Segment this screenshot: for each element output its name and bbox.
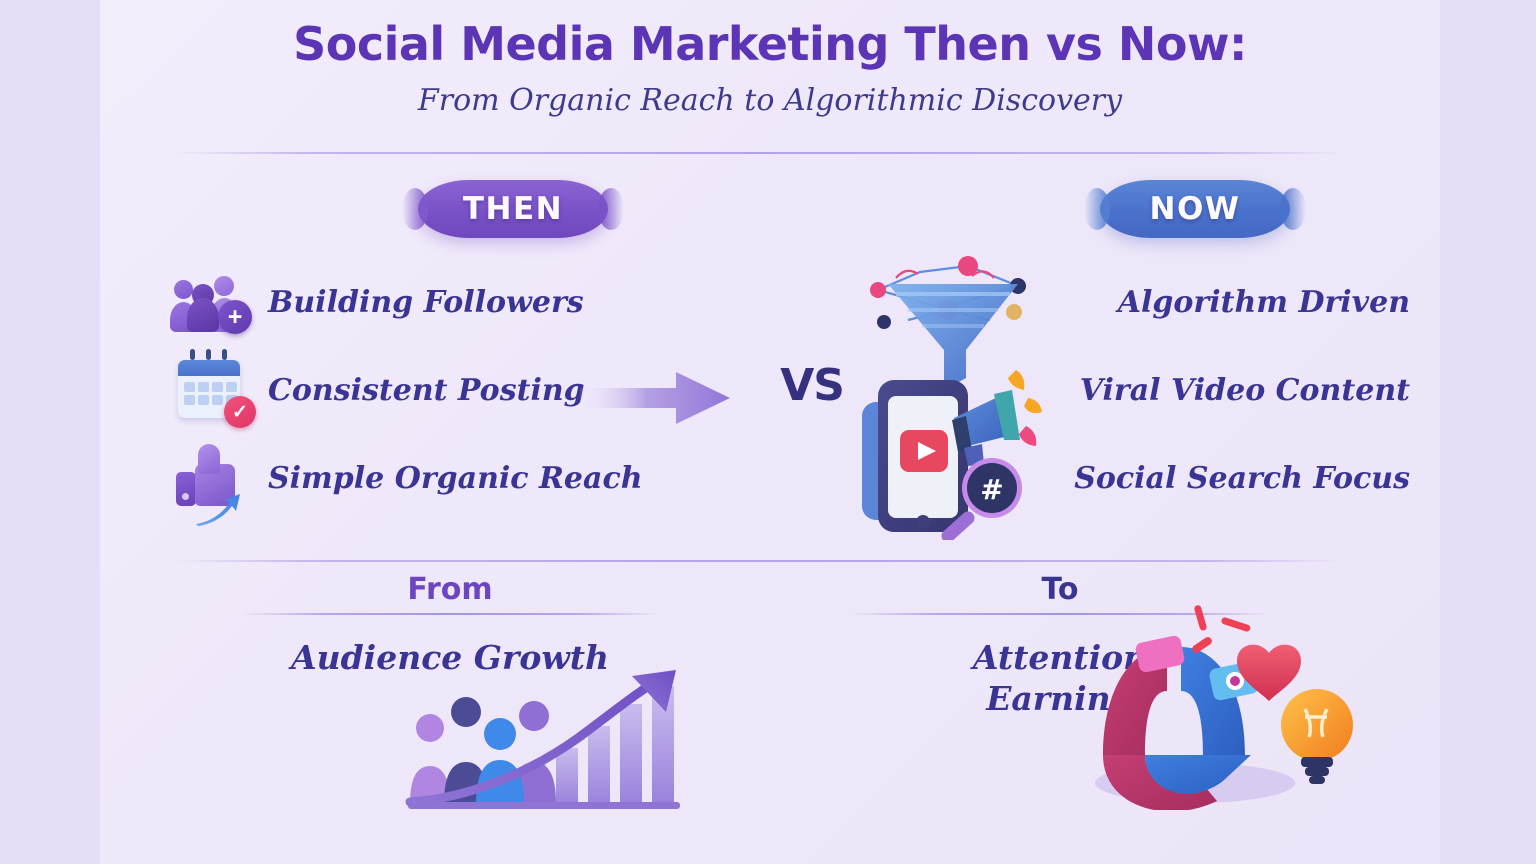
vs-divider: VS [580,352,840,442]
lightbulb-icon [1281,689,1353,784]
now-item-label: Algorithm Driven [1118,285,1410,320]
now-column: Algorithm Driven Viral Video Content Soc… [850,258,1410,522]
audience-growth-chart-icon [400,668,700,818]
people-group-plus-icon: + [170,266,254,338]
content-panel: Social Media Marketing Then vs Now: From… [100,0,1440,864]
divider-middle [175,560,1340,562]
now-item-algorithm-driven: Algorithm Driven [850,258,1410,346]
up-arrow-icon [196,492,242,526]
then-item-simple-organic-reach: Simple Organic Reach [170,434,640,522]
page-subtitle: From Organic Reach to Algorithmic Discov… [100,83,1440,118]
then-item-label: Building Followers [268,285,584,320]
header: Social Media Marketing Then vs Now: From… [100,18,1440,118]
now-item-social-search-focus: Social Search Focus [850,434,1410,522]
spark-icon [1191,605,1252,654]
then-item-consistent-posting: ✓ Consistent Posting [170,346,640,434]
from-section: From Audience Growth [240,572,660,678]
then-item-label: Consistent Posting [268,373,585,408]
then-column: + Building Followers ✓ [170,258,640,522]
from-heading: From [240,572,660,607]
thumbs-up-arrow-icon [170,442,254,514]
arrow-right-icon [580,370,730,426]
divider-top [175,152,1340,154]
from-underline [240,613,660,615]
then-badge: THEN [418,180,608,238]
infographic-canvas: Social Media Marketing Then vs Now: From… [0,0,1536,864]
now-badge: NOW [1100,180,1290,238]
now-item-label: Social Search Focus [1074,461,1410,496]
now-item-label: Viral Video Content [1080,373,1410,408]
now-item-viral-video-content: Viral Video Content [850,346,1410,434]
then-item-building-followers: + Building Followers [170,258,640,346]
check-icon: ✓ [224,396,256,428]
plus-icon: + [218,300,252,334]
calendar-check-icon: ✓ [170,354,254,426]
page-title: Social Media Marketing Then vs Now: [100,18,1440,71]
vs-label: VS [780,360,844,411]
then-item-label: Simple Organic Reach [268,461,643,496]
to-heading: To [850,572,1270,607]
magnet-attention-icon [1055,605,1365,810]
